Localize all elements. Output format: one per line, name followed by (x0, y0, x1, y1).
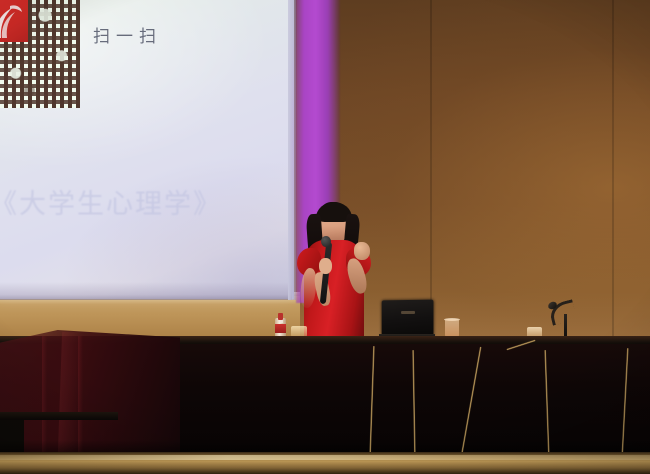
laptop-lid (382, 300, 434, 337)
wall-seam-right (612, 0, 614, 340)
microphone-head (321, 236, 331, 247)
stage-rail (0, 412, 118, 420)
wechat-brand-logo-icon (0, 0, 28, 42)
bottle-cap (278, 313, 283, 320)
photo-scene: 扫一扫 《大学生心理学》 (0, 0, 650, 474)
hand-holding-microphone (319, 258, 332, 274)
projection-screen: 扫一扫 《大学生心理学》 (0, 0, 294, 299)
stage-floor-sheen (0, 455, 650, 460)
scan-caption: 扫一扫 (93, 22, 162, 47)
laptop-logo (401, 311, 415, 314)
screen-bottom-shadow (0, 282, 292, 300)
raised-fist (354, 242, 370, 260)
laptop (379, 300, 435, 340)
wall-seam-left (430, 0, 432, 340)
table-skirt-fold-1 (42, 336, 47, 456)
slide-title: 《大学生心理学》 (0, 182, 222, 221)
bottle-label (275, 324, 286, 333)
table-skirt-maroon (0, 330, 180, 456)
table-skirt-fold-2 (78, 336, 83, 456)
qr-code-icon (0, 0, 80, 108)
